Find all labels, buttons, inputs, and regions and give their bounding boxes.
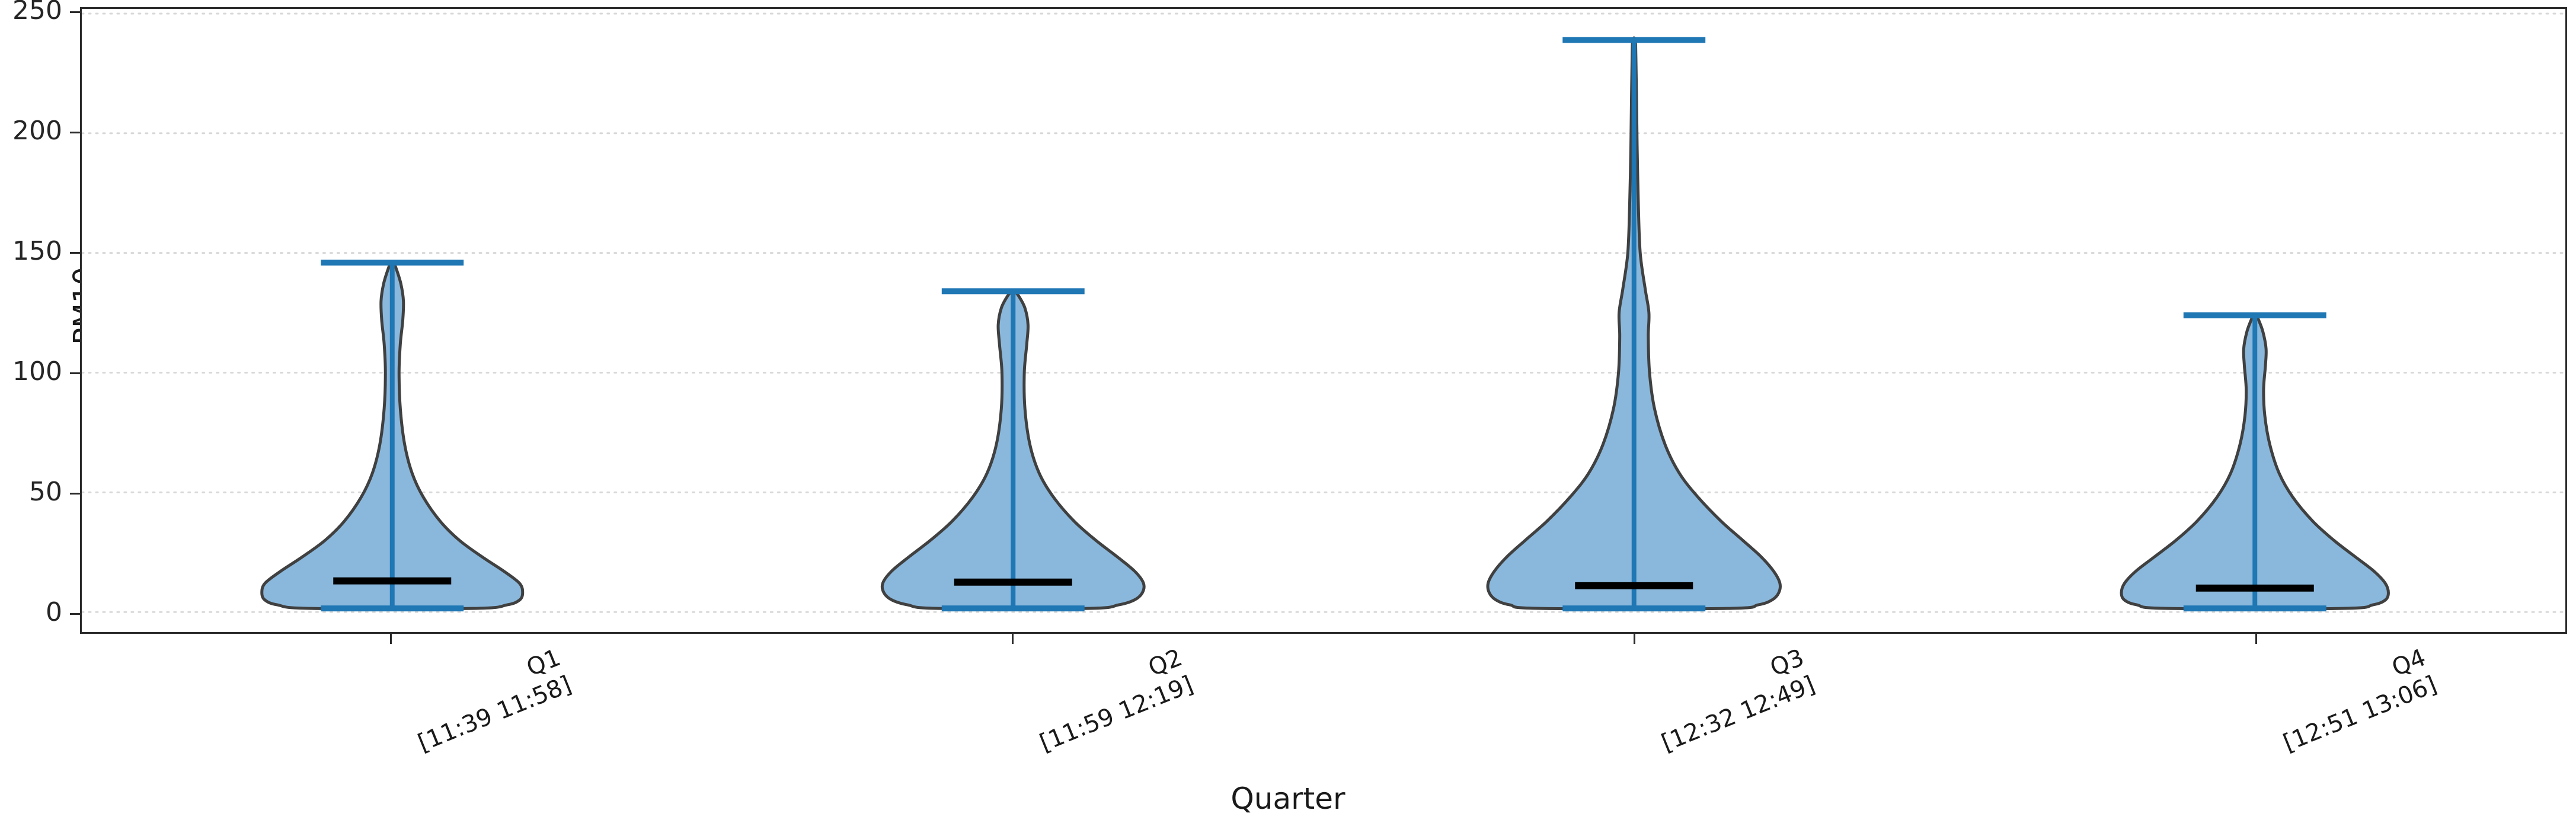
violin-q2[interactable] <box>882 291 1144 609</box>
x-tick-label: Q2[11:59 12:19] <box>1024 643 1197 758</box>
violin-plot-figure: PM10 050100150200250 Q1[11:39 11:58]Q2[1… <box>0 0 2576 839</box>
violin-canvas <box>82 9 2565 632</box>
violin-q4[interactable] <box>2121 315 2388 609</box>
x-tick-mark <box>1012 634 1014 644</box>
y-tick-mark <box>70 11 80 13</box>
plot-area <box>80 7 2567 634</box>
y-tick-label: 250 <box>0 0 62 24</box>
y-tick-mark <box>70 252 80 254</box>
y-tick-mark <box>70 132 80 133</box>
x-tick-label-group: Q2[11:59 12:19] <box>1013 643 1014 645</box>
violin-q3[interactable] <box>1488 38 1781 609</box>
x-tick-label-group: Q4[12:51 13:06] <box>2257 643 2258 645</box>
x-tick-label-group: Q3[12:32 12:49] <box>1635 643 1636 645</box>
y-tick-label: 200 <box>0 118 62 144</box>
y-tick-label: 0 <box>0 599 62 626</box>
y-tick-label: 150 <box>0 238 62 264</box>
x-tick-label-group: Q1[11:39 11:58] <box>391 643 392 645</box>
y-tick-mark <box>70 613 80 615</box>
y-tick-mark <box>70 493 80 495</box>
x-tick-mark <box>390 634 392 644</box>
x-tick-mark <box>2255 634 2257 644</box>
x-tick-label: Q4[12:51 13:06] <box>2268 643 2440 758</box>
x-tick-mark <box>1634 634 1635 644</box>
x-axis-title: Quarter <box>0 781 2576 816</box>
x-tick-label: Q1[11:39 11:58] <box>402 643 575 758</box>
y-tick-mark <box>70 372 80 374</box>
y-tick-label: 50 <box>0 479 62 505</box>
violin-q1[interactable] <box>262 261 523 609</box>
x-tick-label: Q3[12:32 12:49] <box>1646 643 1818 758</box>
y-tick-label: 100 <box>0 359 62 385</box>
